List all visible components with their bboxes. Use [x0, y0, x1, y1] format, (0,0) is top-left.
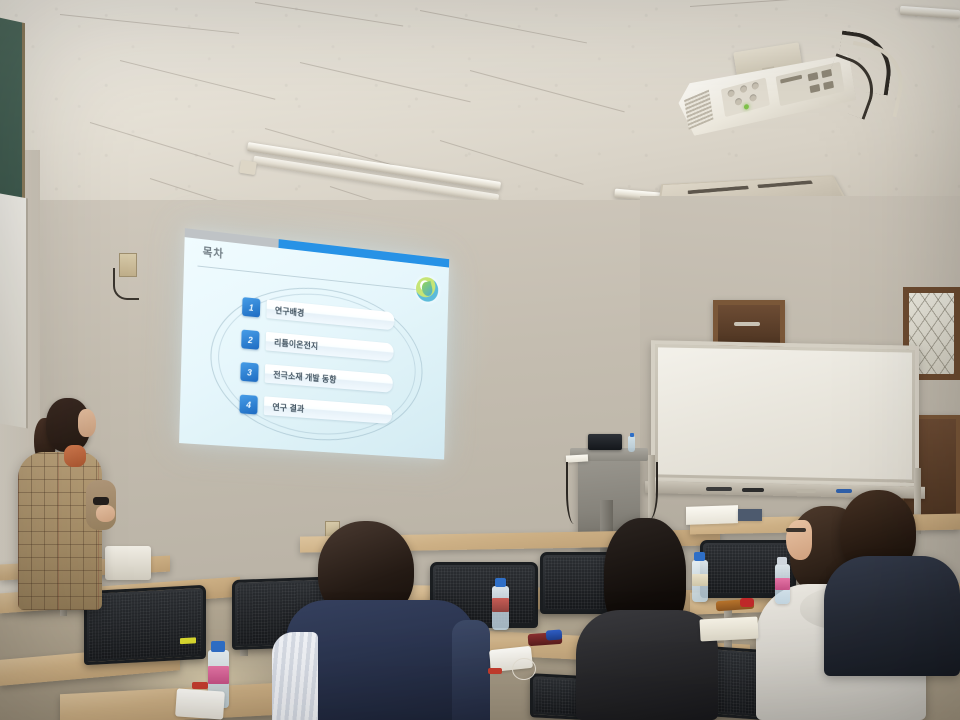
attendee-torso	[576, 610, 718, 720]
whiteboard-eraser[interactable]	[796, 489, 816, 493]
bottle-cap	[495, 578, 506, 587]
projector-port[interactable]	[809, 84, 820, 93]
whiteboard-marker[interactable]	[836, 489, 852, 493]
toc-number: 2	[241, 330, 259, 350]
green-chalkboard	[0, 17, 25, 223]
notebook[interactable]	[699, 616, 758, 641]
printer	[105, 546, 151, 580]
laptop[interactable]	[588, 434, 622, 450]
bottle-label	[492, 598, 509, 612]
presenter-scarf	[64, 445, 86, 467]
glasses-icon	[786, 528, 806, 532]
toc-label: 전극소재 개발 동향	[265, 367, 337, 384]
office-chair[interactable]	[84, 585, 206, 665]
bottle-cap	[694, 552, 705, 561]
presentation-slide: 목차 1 연구배경 2 리튬이온전지 3 전극소재 개발 동향	[179, 228, 449, 459]
chair-mesh	[89, 590, 201, 660]
projector-button[interactable]	[735, 97, 743, 106]
toc-number: 3	[240, 362, 258, 382]
pen[interactable]	[740, 598, 754, 607]
toc-label: 연구 결과	[264, 400, 305, 415]
toc-number: 1	[242, 297, 260, 317]
projector-power-led	[744, 104, 750, 110]
light-mount	[239, 160, 257, 175]
podium-cable	[640, 462, 658, 520]
projection-screen: 목차 1 연구배경 2 리튬이온전지 3 전극소재 개발 동향	[179, 228, 449, 459]
presenter-face	[78, 409, 96, 437]
tablet[interactable]	[738, 509, 762, 521]
pen[interactable]	[192, 682, 208, 689]
outlet-cable	[113, 268, 139, 300]
door-handle[interactable]	[734, 322, 760, 326]
presenter-watch	[93, 497, 109, 505]
attendee-torso	[824, 556, 960, 676]
ac-vent	[757, 180, 813, 188]
whiteboard-marker[interactable]	[706, 487, 732, 491]
toc-number: 4	[239, 395, 257, 415]
left-window	[0, 194, 28, 429]
paper-sheet[interactable]	[686, 505, 738, 525]
podium-cable	[566, 462, 582, 524]
toc-label: 연구배경	[266, 303, 304, 318]
attendee-face	[786, 520, 812, 560]
green-blue-leaf-logo	[416, 276, 439, 303]
projector-port[interactable]	[808, 72, 819, 81]
presenter-hand	[96, 505, 115, 522]
ac-vent	[688, 186, 749, 194]
toc-label: 리튬이온전지	[266, 335, 319, 351]
projector-button[interactable]	[749, 93, 757, 102]
projector-button[interactable]	[740, 85, 748, 94]
projector-button[interactable]	[751, 82, 759, 91]
bottle-label	[208, 666, 229, 684]
pen[interactable]	[488, 668, 502, 674]
presenter-blazer	[18, 452, 102, 610]
slide-title: 목차	[203, 243, 225, 261]
classroom-photo: 목차 1 연구배경 2 리튬이온전지 3 전극소재 개발 동향	[0, 0, 960, 720]
whiteboard	[651, 340, 919, 487]
bottle-label	[692, 574, 708, 586]
bottle-cap	[777, 557, 787, 565]
whiteboard-surface[interactable]	[658, 347, 912, 479]
face-mask[interactable]	[175, 688, 225, 719]
attendee-shirt-sleeve	[272, 632, 318, 720]
whiteboard-marker[interactable]	[742, 488, 764, 492]
chair-tag	[180, 637, 196, 644]
projector-button[interactable]	[727, 89, 735, 98]
bottle-label	[775, 578, 790, 590]
pen[interactable]	[546, 629, 563, 640]
projector-port[interactable]	[780, 75, 802, 84]
bottle-cap	[211, 641, 225, 652]
water-bottle[interactable]	[628, 436, 635, 452]
attendee-shoulder	[452, 620, 490, 720]
